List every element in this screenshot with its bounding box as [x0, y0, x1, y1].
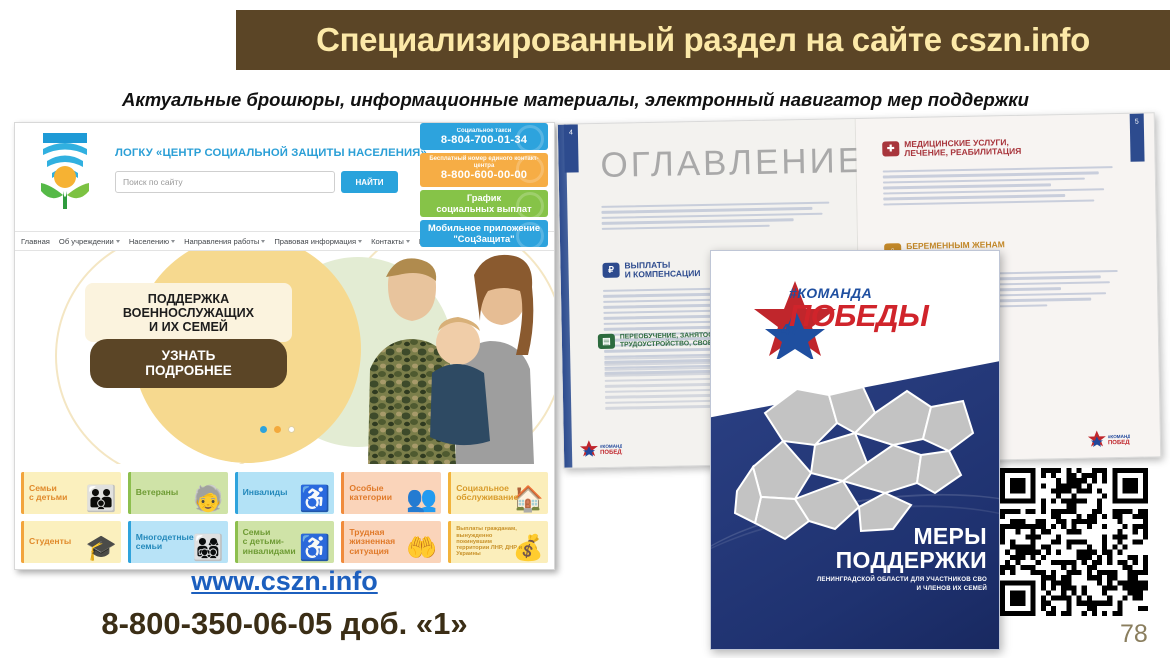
nav-item-legal-info[interactable]: Правовая информация: [274, 237, 362, 246]
brochure-left-brand-logo: #КОМАНДА ПОБЕДЫ: [580, 439, 624, 458]
side-button-payment-schedule-line2: социальных выплат: [436, 204, 531, 215]
chevron-down-icon: [406, 240, 410, 243]
search-button[interactable]: НАЙТИ: [341, 171, 398, 193]
money-icon: ₽: [602, 263, 619, 278]
nav-item-home-label: Главная: [21, 237, 50, 246]
slide-subtitle: Актуальные брошюры, информационные матер…: [122, 86, 1162, 114]
banner-photo: [338, 251, 548, 464]
cover-title-line1: МЕРЫ: [817, 525, 987, 548]
site-side-buttons: Социальное такси 8-804-700-01-34 Бесплат…: [420, 123, 548, 250]
nav-item-contacts[interactable]: Контакты: [371, 237, 410, 246]
tile-icon: 🤲: [406, 536, 437, 561]
nav-item-work-areas-label: Направления работы: [184, 237, 259, 246]
tile-icon: 👨‍👩‍👧‍👦: [192, 536, 223, 561]
brochure-page-right-number: 5: [1130, 114, 1145, 162]
chevron-down-icon: [171, 240, 175, 243]
website-url-link[interactable]: www.cszn.info: [14, 566, 555, 597]
tile-special-categories[interactable]: Особыекатегории👥: [341, 472, 441, 514]
cover-logo-main: ПОБЕДЫ: [789, 301, 928, 330]
banner-carousel-dots[interactable]: [260, 426, 295, 433]
brochure-right-brand-logo: #КОМАНДА ПОБЕДЫ: [1088, 429, 1132, 448]
nav-item-population[interactable]: Населению: [129, 237, 175, 246]
tile-payments-displaced-citizens[interactable]: Выплаты гражданам, вынужденно покинувшим…: [448, 521, 548, 563]
slide-root: Специализированный раздел на сайте cszn.…: [0, 0, 1170, 658]
carousel-dot-1[interactable]: [260, 426, 267, 433]
side-button-contact-center[interactable]: Бесплатный номер единого контакт-центра …: [420, 153, 548, 187]
svg-text:#КОМАНДА: #КОМАНДА: [1108, 433, 1130, 439]
banner-caption-box: ПОДДЕРЖКА ВОЕННОСЛУЖАЩИХ И ИХ СЕМЕЙ: [85, 283, 292, 342]
tile-large-families[interactable]: Многодетныесемьи👨‍👩‍👧‍👦: [128, 521, 228, 563]
side-button-social-taxi-phone: 8-804-700-01-34: [422, 134, 546, 147]
tile-row-2: Студенты🎓 Многодетныесемьи👨‍👩‍👧‍👦 Семьис…: [21, 521, 548, 563]
tile-icon: 👪: [86, 487, 117, 512]
side-button-payment-schedule[interactable]: График социальных выплат: [420, 190, 548, 217]
svg-text:#КОМАНДА: #КОМАНДА: [600, 443, 622, 449]
hotline-phone-number: 8-800-350-06-05 доб. «1»: [14, 606, 555, 642]
tile-icon: 🎓: [86, 536, 117, 561]
svg-text:ПОБЕДЫ: ПОБЕДЫ: [600, 449, 622, 456]
tile-icon: 🧓: [192, 487, 223, 512]
side-button-social-taxi-label: Социальное такси: [422, 128, 546, 135]
side-button-contact-center-phone: 8-800-600-00-00: [422, 169, 546, 182]
banner-caption-line3: И ИХ СЕМЕЙ: [89, 320, 288, 334]
brochure-contents-lines-1: [601, 201, 841, 233]
nav-item-population-label: Населению: [129, 237, 169, 246]
carousel-dot-3[interactable]: [288, 426, 295, 433]
side-button-mobile-app-line1: Мобильное приложение: [428, 223, 540, 234]
site-banner[interactable]: ПОДДЕРЖКА ВОЕННОСЛУЖАЩИХ И ИХ СЕМЕЙ УЗНА…: [15, 251, 554, 464]
brochure-section-medical-line2: ЛЕЧЕНИЕ, РЕАБИЛИТАЦИЯ: [904, 146, 1021, 158]
nav-item-home[interactable]: Главная: [21, 237, 50, 246]
qr-code-icon[interactable]: [1000, 468, 1148, 616]
site-title: ЛОГКУ «ЦЕНТР СОЦИАЛЬНОЙ ЗАЩИТЫ НАСЕЛЕНИЯ…: [115, 147, 427, 159]
medical-cross-icon: ✚: [882, 142, 899, 157]
briefcase-icon: ▤: [598, 334, 615, 349]
cover-subtitle-line1: ЛЕНИНГРАДСКОЙ ОБЛАСТИ ДЛЯ УЧАСТНИКОВ СВО: [817, 576, 987, 584]
tile-icon: 👥: [406, 487, 437, 512]
banner-button-line1: УЗНАТЬ: [94, 348, 283, 363]
site-search-row: Поиск по сайту НАЙТИ: [115, 171, 398, 193]
site-header: ЛОГКУ «ЦЕНТР СОЦИАЛЬНОЙ ЗАЩИТЫ НАСЕЛЕНИЯ…: [15, 123, 554, 231]
tile-row-1: Семьис детьми👪 Ветераны🧓 Инвалиды♿ Особы…: [21, 472, 548, 514]
tile-disabled[interactable]: Инвалиды♿: [235, 472, 335, 514]
cover-caption: МЕРЫ ПОДДЕРЖКИ ЛЕНИНГРАДСКОЙ ОБЛАСТИ ДЛЯ…: [817, 525, 987, 593]
slide-page-number: 78: [1120, 620, 1148, 649]
tile-icon: ♿: [299, 536, 330, 561]
tile-families-disabled-children[interactable]: Семьис детьми-инвалидами♿: [235, 521, 335, 563]
side-button-social-taxi[interactable]: Социальное такси 8-804-700-01-34: [420, 123, 548, 150]
brochure-section-payments: ₽ ВЫПЛАТЫ И КОМПЕНСАЦИИ: [602, 260, 700, 280]
slide-title-bar: Специализированный раздел на сайте cszn.…: [236, 10, 1170, 70]
brochure-cover-image: 47 #КОМАНДА ПОБЕДЫ МЕРЫ: [710, 250, 1000, 650]
carousel-dot-2[interactable]: [274, 426, 281, 433]
cover-subtitle-line2: И ЧЛЕНОВ ИХ СЕМЕЙ: [817, 585, 987, 593]
brochure-section-medical: ✚ МЕДИЦИНСКИЕ УСЛУГИ, ЛЕЧЕНИЕ, РЕАБИЛИТА…: [882, 138, 1021, 159]
nav-item-contacts-label: Контакты: [371, 237, 404, 246]
tile-icon: ♿: [299, 487, 330, 512]
tile-families-with-children[interactable]: Семьис детьми👪: [21, 472, 121, 514]
cover-title-line2: ПОДДЕРЖКИ: [817, 549, 987, 572]
side-button-payment-schedule-line1: График: [436, 193, 531, 204]
brochure-section-payments-line2: И КОМПЕНСАЦИИ: [625, 268, 701, 279]
nav-item-about[interactable]: Об учреждении: [59, 237, 120, 246]
svg-text:ПОБЕДЫ: ПОБЕДЫ: [1108, 439, 1130, 446]
chevron-down-icon: [358, 240, 362, 243]
chevron-down-icon: [116, 240, 120, 243]
side-button-mobile-app-line2: "СоцЗащита": [428, 234, 540, 245]
side-button-mobile-app[interactable]: Мобильное приложение "СоцЗащита": [420, 220, 548, 247]
nav-item-about-label: Об учреждении: [59, 237, 114, 246]
banner-button-line2: ПОДРОБНЕЕ: [94, 363, 283, 378]
victory-star-icon: #КОМАНДА ПОБЕДЫ: [1088, 429, 1130, 447]
side-button-contact-center-label: Бесплатный номер единого контакт-центра: [422, 156, 546, 169]
website-screenshot: ЛОГКУ «ЦЕНТР СОЦИАЛЬНОЙ ЗАЩИТЫ НАСЕЛЕНИЯ…: [14, 122, 555, 570]
page-title: Специализированный раздел на сайте cszn.…: [316, 21, 1090, 59]
brochure-contents-heading: ОГЛАВЛЕНИЕ: [600, 141, 864, 186]
chevron-down-icon: [261, 240, 265, 243]
tile-difficult-life-situation[interactable]: Труднаяжизненнаяситуация🤲: [341, 521, 441, 563]
victory-star-icon: #КОМАНДА ПОБЕДЫ: [580, 439, 622, 457]
banner-caption-line1: ПОДДЕРЖКА: [89, 292, 288, 306]
qr-code-graphic: [1000, 468, 1148, 616]
nav-item-work-areas[interactable]: Направления работы: [184, 237, 265, 246]
tile-students[interactable]: Студенты🎓: [21, 521, 121, 563]
brochure-page-left-number: 4: [564, 124, 579, 172]
tile-social-services[interactable]: Социальноеобслуживание🏠: [448, 472, 548, 514]
cover-logo-text: #КОМАНДА ПОБЕДЫ: [789, 285, 928, 330]
nav-item-legal-info-label: Правовая информация: [274, 237, 356, 246]
banner-learn-more-button[interactable]: УЗНАТЬ ПОДРОБНЕЕ: [90, 339, 287, 388]
tile-veterans[interactable]: Ветераны🧓: [128, 472, 228, 514]
site-category-tiles: Семьис детьми👪 Ветераны🧓 Инвалиды♿ Особы…: [15, 464, 554, 570]
brochure-contents-lines-4: [883, 166, 1124, 209]
banner-caption-line2: ВОЕННОСЛУЖАЩИХ: [89, 306, 288, 320]
cszn-logo-icon: [37, 129, 93, 215]
child-head: [436, 321, 480, 365]
search-input[interactable]: Поиск по сайту: [115, 171, 335, 193]
